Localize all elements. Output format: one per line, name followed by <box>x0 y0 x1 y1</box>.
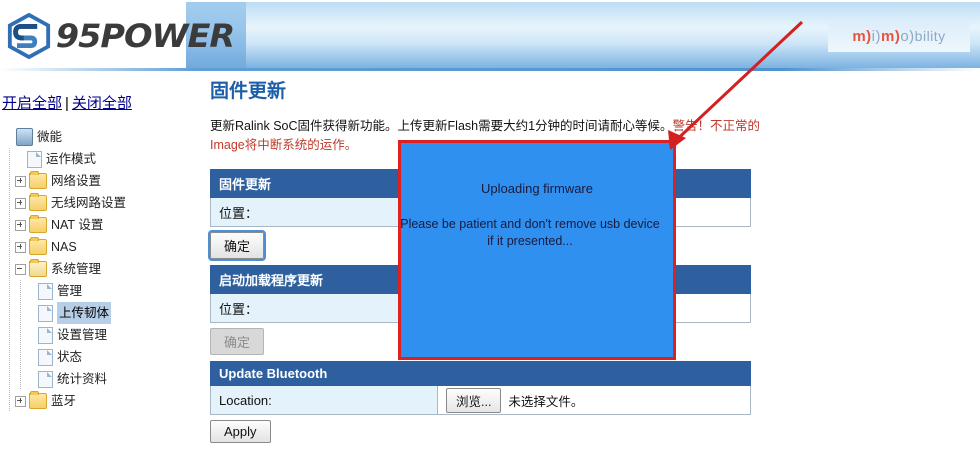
collapse-all-link[interactable]: 关闭全部 <box>72 95 132 112</box>
banner-divider <box>0 68 980 71</box>
sidebar-item-4[interactable]: NAT 设置 <box>4 214 194 236</box>
section-heading: Update Bluetooth <box>210 361 751 386</box>
page-icon <box>38 371 53 388</box>
folder-icon <box>29 217 47 233</box>
sidebar-item-label[interactable]: 系统管理 <box>51 258 101 280</box>
tree-indent-guide <box>4 236 15 258</box>
page-icon <box>38 305 53 322</box>
sidebar-item-label[interactable]: 状态 <box>57 346 82 368</box>
tree-indent-guide <box>15 346 26 368</box>
tree-indent-guide <box>4 390 15 412</box>
sidebar-item-0[interactable]: 微能 <box>4 126 194 148</box>
location-label: Location: <box>211 386 438 414</box>
tree-expand-icon[interactable] <box>15 242 26 253</box>
sidebar-item-label[interactable]: 微能 <box>37 126 62 148</box>
tree-indent-guide <box>4 192 15 214</box>
folder-icon <box>29 393 47 409</box>
tree-indent-guide <box>4 368 15 390</box>
page-description-part1: 更新Ralink SoC固件获得新功能。上传更新Flash需要大约1分钟的时间请… <box>210 119 673 133</box>
tree-toggle-links: 开启全部|关闭全部 <box>2 92 182 113</box>
tree-indent-guide <box>15 302 26 324</box>
mimo-seg-3: m) <box>881 28 900 45</box>
sidebar-item-2[interactable]: 网络设置 <box>4 170 194 192</box>
sidebar-item-8[interactable]: 上传韧体 <box>4 302 194 324</box>
tree-indent-guide <box>4 346 15 368</box>
sidebar-item-7[interactable]: 管理 <box>4 280 194 302</box>
mimo-seg-2: i) <box>872 28 881 45</box>
submit-button[interactable]: 确定 <box>210 232 264 259</box>
tree-indent-guide <box>4 302 15 324</box>
sidebar-tree: 微能运作模式网络设置无线网路设置NAT 设置NAS系统管理管理上传韧体设置管理状… <box>4 126 194 412</box>
expand-all-link[interactable]: 开启全部 <box>2 95 62 112</box>
sidebar-item-11[interactable]: 统计资料 <box>4 368 194 390</box>
95power-hex-logo-icon <box>6 13 52 59</box>
sidebar-item-9[interactable]: 设置管理 <box>4 324 194 346</box>
sidebar-item-6[interactable]: 系统管理 <box>4 258 194 280</box>
sidebar-item-label[interactable]: NAS <box>51 236 77 258</box>
sidebar-item-label[interactable]: 运作模式 <box>46 148 96 170</box>
sidebar-item-label[interactable]: 蓝牙 <box>51 390 76 412</box>
sidebar-item-3[interactable]: 无线网路设置 <box>4 192 194 214</box>
modal-title: Uploading firmware <box>481 181 593 196</box>
modal-message: Please be patient and don't remove usb d… <box>380 216 680 250</box>
tree-indent-guide <box>15 368 26 390</box>
brand-logo-text: 95POWER <box>56 17 234 55</box>
tree-collapse-icon[interactable] <box>15 264 26 275</box>
page-icon <box>38 283 53 300</box>
submit-button: 确定 <box>210 328 264 355</box>
section-row: Location:浏览...未选择文件。 <box>210 386 751 415</box>
selected-file-name[interactable]: 未选择文件。 <box>508 391 583 410</box>
page-icon <box>38 349 53 366</box>
sidebar-item-label[interactable]: 无线网路设置 <box>51 192 126 214</box>
mimo-seg-1: m) <box>852 28 871 45</box>
submit-button[interactable]: Apply <box>210 420 271 443</box>
sidebar-item-label[interactable]: 上传韧体 <box>57 302 111 324</box>
brand-logo: 95POWER <box>6 8 184 64</box>
sidebar-item-5[interactable]: NAS <box>4 236 194 258</box>
tree-expand-icon[interactable] <box>15 220 26 231</box>
uploading-firmware-modal: Uploading firmware Please be patient and… <box>398 140 676 360</box>
tree-indent-guide <box>15 324 26 346</box>
tree-indent-guide <box>4 258 15 280</box>
tree-expand-icon[interactable] <box>15 176 26 187</box>
tree-expand-icon[interactable] <box>15 198 26 209</box>
sidebar-item-12[interactable]: 蓝牙 <box>4 390 194 412</box>
modal-message-line2: if it presented... <box>380 233 680 250</box>
tree-indent-guide <box>4 170 15 192</box>
root-icon <box>16 128 33 146</box>
folder-icon <box>29 173 47 189</box>
section-2: Update BluetoothLocation:浏览...未选择文件。Appl… <box>210 361 751 443</box>
mimobility-logo: m) i) m) o) bility <box>828 20 970 52</box>
sidebar-item-label[interactable]: 统计资料 <box>57 368 107 390</box>
tree-indent-guide <box>4 148 15 170</box>
top-banner: 95POWER m) i) m) o) bility <box>0 0 980 72</box>
sidebar-item-label[interactable]: 管理 <box>57 280 82 302</box>
mimo-seg-4: o) <box>900 28 914 45</box>
browse-button[interactable]: 浏览... <box>446 388 501 413</box>
sidebar-item-label[interactable]: 设置管理 <box>57 324 107 346</box>
page-icon <box>27 151 42 168</box>
tree-expand-icon[interactable] <box>15 396 26 407</box>
tree-indent-guide <box>15 280 26 302</box>
link-separator: | <box>65 95 69 112</box>
file-field: 浏览...未选择文件。 <box>438 386 750 414</box>
tree-indent-guide <box>4 280 15 302</box>
page-title: 固件更新 <box>210 76 758 103</box>
tree-indent-guide <box>4 214 15 236</box>
mimo-seg-5: bility <box>915 28 946 44</box>
sidebar-item-label[interactable]: 网络设置 <box>51 170 101 192</box>
folder-icon <box>29 195 47 211</box>
tree-indent-guide <box>4 324 15 346</box>
sidebar-item-10[interactable]: 状态 <box>4 346 194 368</box>
page-icon <box>38 327 53 344</box>
sidebar-item-label[interactable]: NAT 设置 <box>51 214 103 236</box>
folder-icon <box>29 239 47 255</box>
modal-message-line1: Please be patient and don't remove usb d… <box>380 216 680 233</box>
folder-open-icon <box>29 261 47 277</box>
sidebar-item-1[interactable]: 运作模式 <box>4 148 194 170</box>
